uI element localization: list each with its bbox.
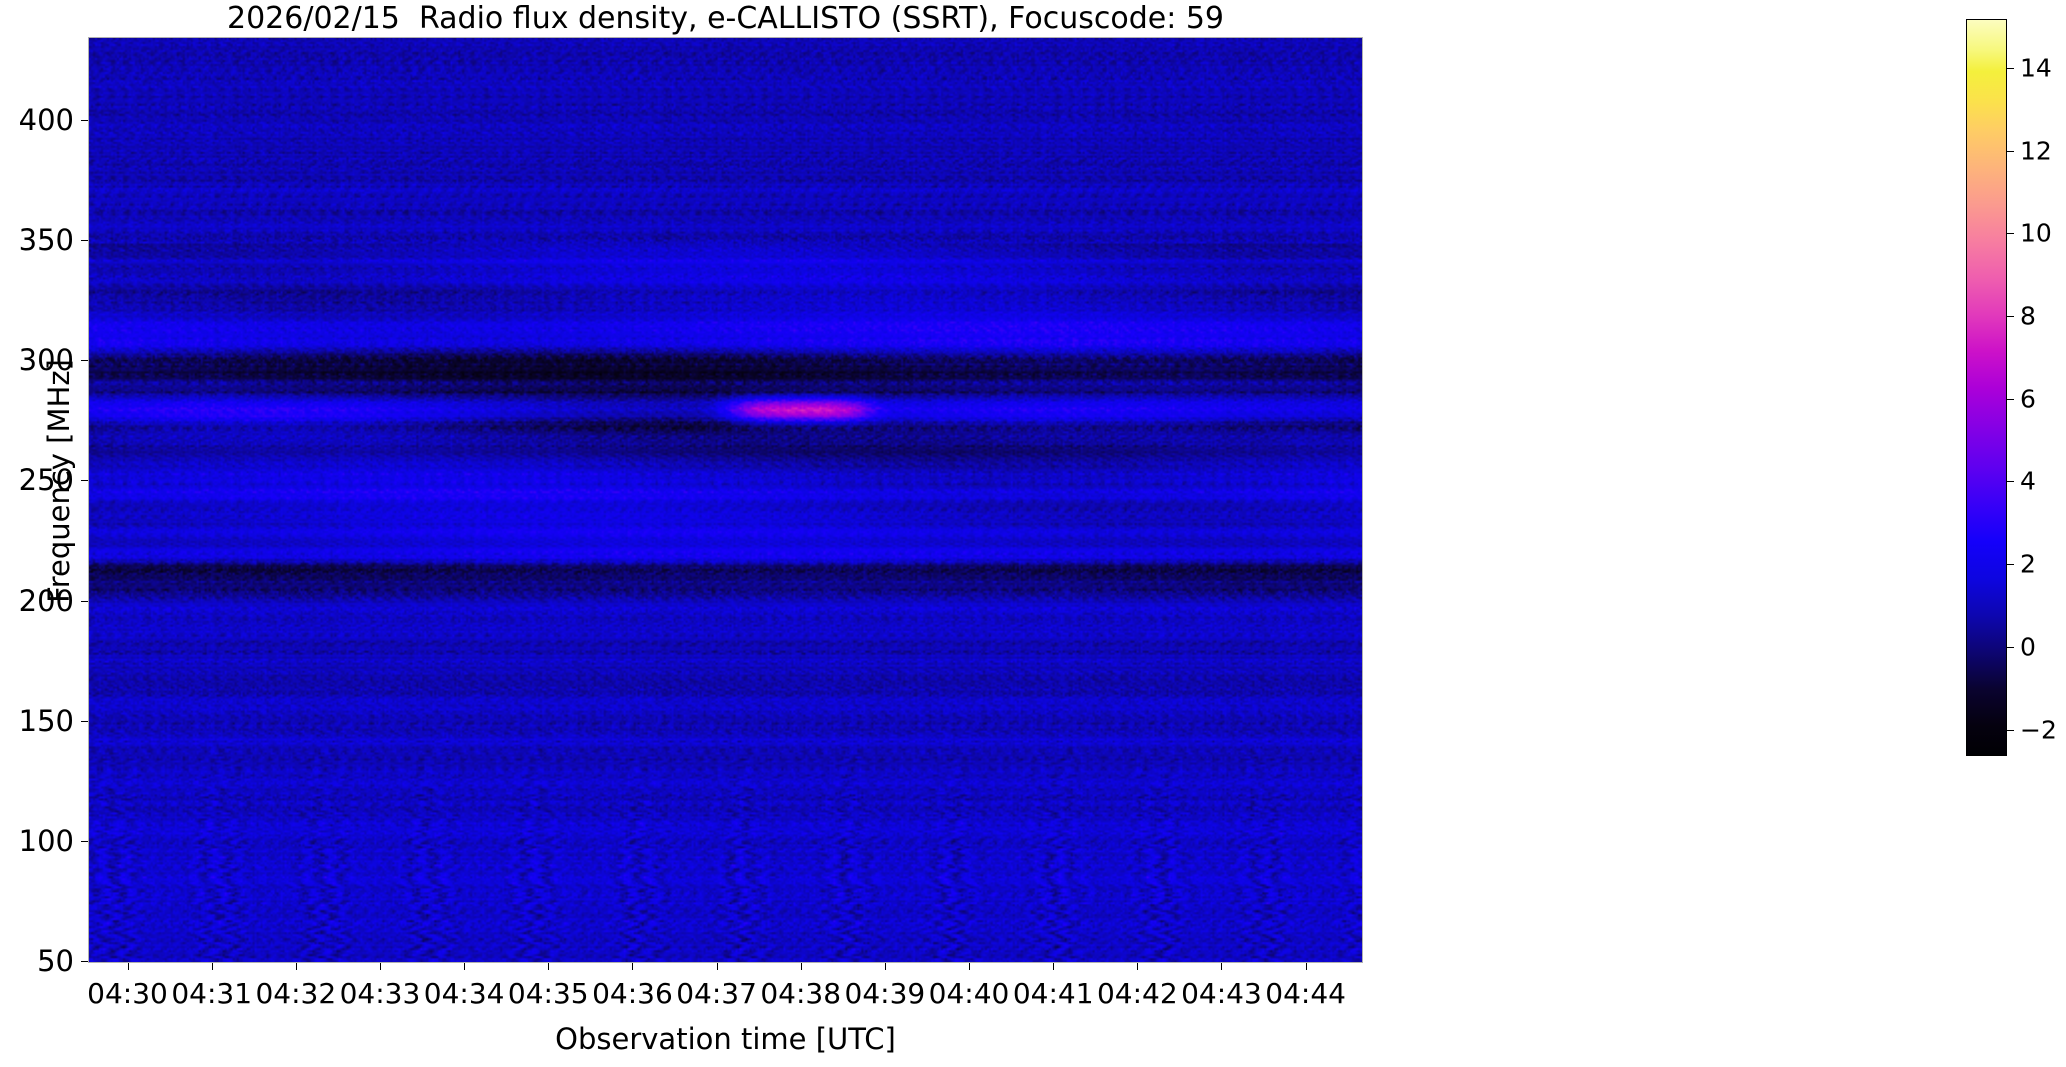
y-tick-mark bbox=[81, 841, 88, 842]
colorbar-tick-label: −2 bbox=[2020, 715, 2057, 744]
x-tick-mark bbox=[632, 963, 633, 970]
y-tick-mark bbox=[81, 721, 88, 722]
x-tick-label: 04:35 bbox=[508, 977, 589, 1010]
x-tick-label: 04:44 bbox=[1265, 977, 1346, 1010]
x-tick-mark bbox=[801, 963, 802, 970]
x-tick-mark bbox=[464, 963, 465, 970]
colorbar-tick-label: 6 bbox=[2020, 384, 2036, 413]
x-tick-mark bbox=[380, 963, 381, 970]
x-tick-mark bbox=[1306, 963, 1307, 970]
colorbar-tick-label: 12 bbox=[2020, 136, 2052, 165]
colorbar-gradient bbox=[1967, 20, 2006, 755]
y-tick-label: 300 bbox=[0, 343, 74, 377]
colorbar-tick-mark bbox=[2007, 647, 2014, 648]
x-tick-mark bbox=[885, 963, 886, 970]
colorbar-tick-mark bbox=[2007, 233, 2014, 234]
colorbar-tick-label: 14 bbox=[2020, 54, 2052, 83]
x-tick-mark bbox=[1137, 963, 1138, 970]
figure-canvas: 2026/02/15 Radio flux density, e-CALLIST… bbox=[0, 0, 2066, 1067]
y-tick-label: 100 bbox=[0, 824, 74, 858]
x-tick-mark bbox=[128, 963, 129, 970]
x-tick-label: 04:38 bbox=[760, 977, 841, 1010]
x-tick-label: 04:33 bbox=[340, 977, 421, 1010]
y-tick-mark bbox=[81, 360, 88, 361]
colorbar-tick-mark bbox=[2007, 399, 2014, 400]
y-tick-mark bbox=[81, 120, 88, 121]
y-tick-label: 150 bbox=[0, 704, 74, 738]
y-tick-mark bbox=[81, 240, 88, 241]
colorbar-tick-label: 0 bbox=[2020, 632, 2036, 661]
x-tick-label: 04:36 bbox=[592, 977, 673, 1010]
x-tick-label: 04:32 bbox=[255, 977, 336, 1010]
x-tick-mark bbox=[969, 963, 970, 970]
x-tick-mark bbox=[548, 963, 549, 970]
colorbar[interactable] bbox=[1966, 19, 2007, 756]
y-tick-mark bbox=[81, 601, 88, 602]
colorbar-tick-label: 4 bbox=[2020, 467, 2036, 496]
x-tick-label: 04:41 bbox=[1013, 977, 1094, 1010]
colorbar-tick-label: 2 bbox=[2020, 550, 2036, 579]
x-tick-mark bbox=[1053, 963, 1054, 970]
y-tick-label: 400 bbox=[0, 103, 74, 137]
x-tick-mark bbox=[212, 963, 213, 970]
colorbar-tick-label: 10 bbox=[2020, 219, 2052, 248]
y-tick-label: 50 bbox=[0, 944, 74, 978]
y-tick-label: 350 bbox=[0, 223, 74, 257]
x-tick-label: 04:31 bbox=[171, 977, 252, 1010]
y-tick-label: 200 bbox=[0, 584, 74, 618]
colorbar-tick-label: 8 bbox=[2020, 302, 2036, 331]
x-tick-mark bbox=[1221, 963, 1222, 970]
x-tick-label: 04:42 bbox=[1097, 977, 1178, 1010]
page-title: 2026/02/15 Radio flux density, e-CALLIST… bbox=[88, 2, 1363, 36]
x-tick-mark bbox=[717, 963, 718, 970]
colorbar-tick-mark bbox=[2007, 151, 2014, 152]
x-tick-mark bbox=[296, 963, 297, 970]
x-tick-label: 04:34 bbox=[424, 977, 505, 1010]
x-axis-label: Observation time [UTC] bbox=[88, 1022, 1363, 1056]
colorbar-tick-mark bbox=[2007, 564, 2014, 565]
y-tick-mark bbox=[81, 480, 88, 481]
x-tick-label: 04:40 bbox=[929, 977, 1010, 1010]
y-tick-mark bbox=[81, 961, 88, 962]
x-tick-label: 04:43 bbox=[1181, 977, 1262, 1010]
x-tick-label: 04:39 bbox=[845, 977, 926, 1010]
x-tick-label: 04:30 bbox=[87, 977, 168, 1010]
x-tick-label: 04:37 bbox=[676, 977, 757, 1010]
colorbar-tick-mark bbox=[2007, 481, 2014, 482]
colorbar-tick-mark bbox=[2007, 316, 2014, 317]
spectrogram-plot-area[interactable] bbox=[88, 37, 1363, 963]
colorbar-tick-mark bbox=[2007, 730, 2014, 731]
spectrogram-image bbox=[89, 38, 1362, 962]
colorbar-tick-mark bbox=[2007, 68, 2014, 69]
y-tick-label: 250 bbox=[0, 463, 74, 497]
